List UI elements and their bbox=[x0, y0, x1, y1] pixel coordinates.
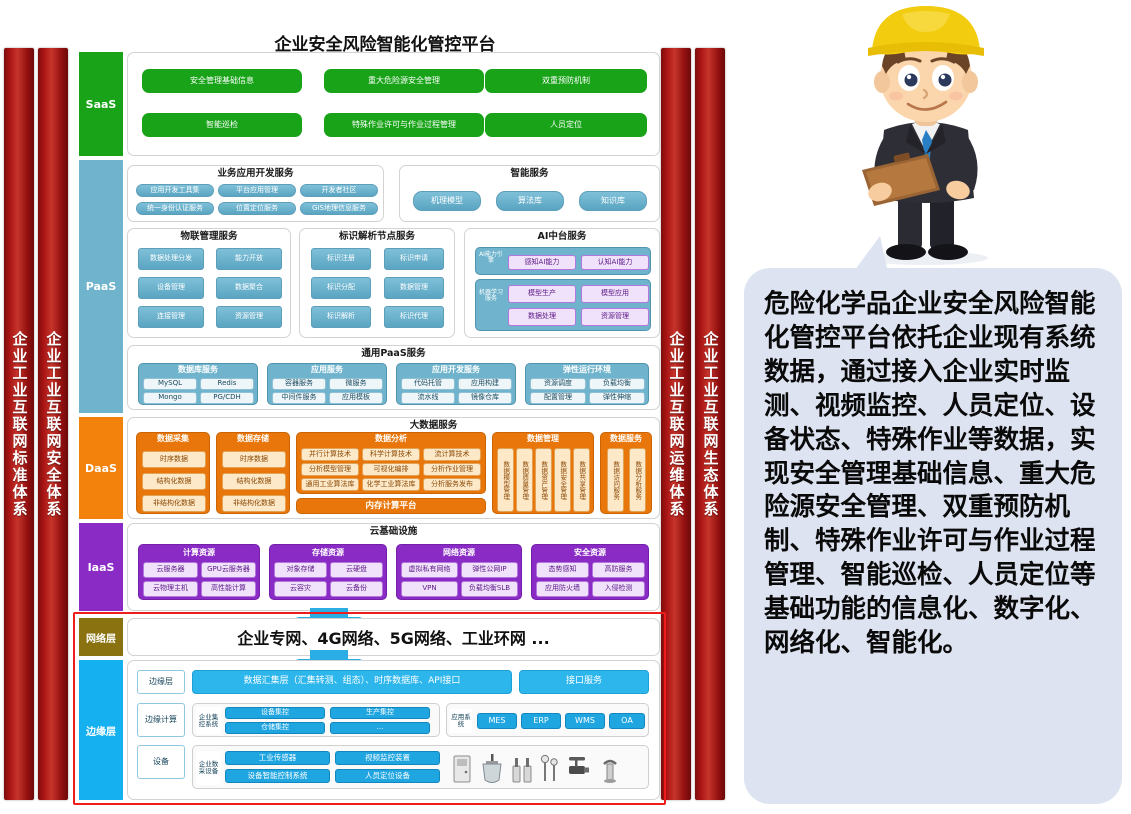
edge-row3-group: 企业数采设备 工业传感器 视频监控装置 设备智能控制系统 人员定位设备 bbox=[192, 745, 649, 789]
layer-tag-iaas: IaaS bbox=[79, 523, 123, 611]
iaas-group-2: 网络资源 虚拟私有网络 弹性公网IP VPN 负载均衡SLB bbox=[396, 544, 522, 600]
daas-analysis-item-0[interactable]: 并行计算技术 bbox=[301, 448, 359, 461]
paas-iot-item-1[interactable]: 能力开放 bbox=[216, 248, 282, 270]
paas-ai-engine-item-1[interactable]: 认知AI能力 bbox=[581, 255, 649, 270]
edge-row2-group1: 企业集控系统 设备集控 生产集控 仓储集控 ... bbox=[192, 703, 440, 737]
paas-biz-dev-title: 业务应用开发服务 bbox=[128, 166, 383, 179]
edge-row3-group-label: 企业数采设备 bbox=[196, 751, 221, 785]
valve-icon bbox=[599, 754, 621, 784]
edge-row2-g2-item-3[interactable]: OA bbox=[609, 713, 645, 729]
edge-row2-g1-item-3[interactable]: ... bbox=[330, 722, 430, 734]
daas-data-mgmt-item-2[interactable]: 数据资产管理 bbox=[535, 448, 552, 512]
paas-ml-group: 机器学习服务 模型生产 模型应用 数据处理 资源管理 bbox=[475, 279, 651, 331]
edge-row2-g1-item-0[interactable]: 设备集控 bbox=[225, 707, 325, 719]
daas-analysis-item-5[interactable]: 分析作业管理 bbox=[423, 463, 481, 476]
edge-row2-group1-label: 企业集控系统 bbox=[196, 707, 221, 734]
daas-analysis-item-2[interactable]: 流计算技术 bbox=[423, 448, 481, 461]
paas-id-resolve-title: 标识解析节点服务 bbox=[300, 229, 454, 242]
daas-analysis-item-7[interactable]: 化学工业算法库 bbox=[362, 478, 420, 491]
general-paas-group-1-title: 应用服务 bbox=[268, 364, 386, 376]
banner-left-standard-label: 企业工业互联网标准体系 bbox=[12, 331, 27, 518]
daas-analysis-title: 数据分析 bbox=[297, 433, 485, 445]
daas-collect-item-1[interactable]: 结构化数据 bbox=[142, 473, 206, 490]
edge-row3-label: 设备 bbox=[137, 745, 185, 779]
daas-analysis-item-4[interactable]: 可视化编排 bbox=[362, 463, 420, 476]
daas-data-service-item-1[interactable]: 数据分析服务 bbox=[629, 448, 646, 512]
daas-analysis-footer-label: 内存计算平台 bbox=[297, 499, 485, 514]
edge-row2-group2-label: 应用系统 bbox=[450, 709, 472, 733]
general-paas-g0-item-0[interactable]: MySQL bbox=[143, 378, 197, 390]
paas-id-item-0[interactable]: 标识注册 bbox=[311, 248, 371, 270]
iaas-g1-item-1[interactable]: 云硬盘 bbox=[330, 562, 383, 578]
sensor-probe-icon bbox=[511, 754, 533, 784]
iaas-g2-item-1[interactable]: 弹性公网IP bbox=[461, 562, 518, 578]
paas-ml-label: 机器学习服务 bbox=[478, 290, 504, 303]
daas-data-service-title: 数据服务 bbox=[601, 433, 651, 445]
paas-smart-service-title: 智能服务 bbox=[400, 166, 659, 179]
daas-collect-title: 数据采集 bbox=[137, 433, 209, 445]
edge-row3-item-0[interactable]: 工业传感器 bbox=[225, 751, 330, 765]
device-icon-strip bbox=[451, 752, 621, 784]
daas-data-mgmt-item-1[interactable]: 数据质量管理 bbox=[516, 448, 533, 512]
daas-title: 大数据服务 bbox=[128, 418, 659, 431]
paas-ai-title: AI中台服务 bbox=[465, 229, 659, 242]
general-paas-panel: 通用PaaS服务 数据库服务 MySQL Redis Mongo PG/CDH … bbox=[127, 345, 660, 410]
edge-row1-side[interactable]: 接口服务 bbox=[519, 670, 649, 694]
paas-iot-item-5[interactable]: 资源管理 bbox=[216, 306, 282, 328]
daas-collect-item-0[interactable]: 时序数据 bbox=[142, 451, 206, 468]
paas-ai-panel: AI中台服务 AI能力引擎 感知AI能力 认知AI能力 机器学习服务 模型生产 … bbox=[464, 228, 660, 338]
edge-row1-main[interactable]: 数据汇集层（汇集转测、组态）、时序数据库、API接口 bbox=[192, 670, 512, 694]
daas-data-mgmt-group: 数据管理 数据模型管理 数据质量管理 数据资产管理 数据安全管理 数据共享管理 bbox=[492, 432, 594, 514]
diagram-canvas: 企业工业互联网标准体系 企业工业互联网安全体系 企业工业互联网运维体系 企业工业… bbox=[0, 0, 1131, 814]
daas-analysis-item-8[interactable]: 分析服务发布 bbox=[423, 478, 481, 491]
daas-data-mgmt-item-4[interactable]: 数据共享管理 bbox=[573, 448, 590, 512]
iaas-g3-item-2[interactable]: 应用防火墙 bbox=[536, 581, 589, 597]
saas-panel: 安全管理基础信息 重大危险源安全管理 双重预防机制 智能巡检 特殊作业许可与作业… bbox=[127, 52, 660, 156]
paas-ml-item-3[interactable]: 资源管理 bbox=[581, 308, 649, 326]
paas-ml-item-2[interactable]: 数据处理 bbox=[508, 308, 576, 326]
daas-data-service-item-0[interactable]: 数据访问服务 bbox=[607, 448, 624, 512]
banner-left-standard: 企业工业互联网标准体系 bbox=[4, 48, 34, 800]
saas-item-5[interactable]: 人员定位 bbox=[485, 113, 647, 137]
paas-id-item-5[interactable]: 标识代理 bbox=[384, 306, 444, 328]
daas-analysis-footer: 内存计算平台 bbox=[296, 498, 486, 514]
paas-biz-dev-item-5[interactable]: GIS地理信息服务 bbox=[300, 202, 378, 215]
reactor-tank-icon bbox=[479, 754, 505, 784]
paas-ml-item-0[interactable]: 模型生产 bbox=[508, 285, 576, 303]
edge-row1-label: 边缘层 bbox=[137, 670, 185, 694]
daas-storage-item-1[interactable]: 结构化数据 bbox=[222, 473, 286, 490]
speech-bubble-text: 危险化学品企业安全风险智能化管控平台依托企业现有系统数据，通过接入企业实时监测、… bbox=[764, 288, 1106, 661]
layer-tag-paas: PaaS bbox=[79, 160, 123, 413]
daas-storage-item-0[interactable]: 时序数据 bbox=[222, 451, 286, 468]
iaas-group-2-title: 网络资源 bbox=[397, 545, 521, 560]
general-paas-g1-item-1[interactable]: 微服务 bbox=[329, 378, 383, 390]
speech-bubble: 危险化学品企业安全风险智能化管控平台依托企业现有系统数据，通过接入企业实时监测、… bbox=[744, 268, 1122, 804]
daas-collect-group: 数据采集 时序数据 结构化数据 非结构化数据 bbox=[136, 432, 210, 514]
saas-item-2[interactable]: 双重预防机制 bbox=[485, 69, 647, 93]
banner-right-ops: 企业工业互联网运维体系 bbox=[661, 48, 691, 800]
general-paas-g2-item-3[interactable]: 镜像仓库 bbox=[458, 392, 512, 404]
general-paas-group-2-title: 应用开发服务 bbox=[397, 364, 515, 376]
paas-iot-item-0[interactable]: 数据处理分发 bbox=[138, 248, 204, 270]
general-paas-group-0-title: 数据库服务 bbox=[139, 364, 257, 376]
edge-row3-item-1[interactable]: 视频监控装置 bbox=[335, 751, 440, 765]
general-paas-g0-item-2[interactable]: Mongo bbox=[143, 392, 197, 404]
iaas-g0-item-1[interactable]: GPU云服务器 bbox=[201, 562, 256, 578]
edge-row2-g2-item-0[interactable]: MES bbox=[477, 713, 517, 729]
paas-iot-item-4[interactable]: 连接管理 bbox=[138, 306, 204, 328]
paas-ml-item-1[interactable]: 模型应用 bbox=[581, 285, 649, 303]
paas-biz-dev-item-2[interactable]: 开发者社区 bbox=[300, 184, 378, 197]
daas-analysis-group: 数据分析 并行计算技术 科学计算技术 流计算技术 分析模型管理 可视化编排 分析… bbox=[296, 432, 486, 494]
general-paas-g1-item-2[interactable]: 中间件服务 bbox=[272, 392, 326, 404]
general-paas-g0-item-3[interactable]: PG/CDH bbox=[200, 392, 254, 404]
iaas-g0-item-0[interactable]: 云服务器 bbox=[143, 562, 198, 578]
paas-biz-dev-item-3[interactable]: 统一身份认证服务 bbox=[136, 202, 214, 215]
iaas-g3-item-0[interactable]: 态势感知 bbox=[536, 562, 589, 578]
saas-item-0[interactable]: 安全管理基础信息 bbox=[142, 69, 302, 93]
iaas-title: 云基础设施 bbox=[128, 524, 659, 537]
general-paas-g3-item-3[interactable]: 弹性伸缩 bbox=[589, 392, 645, 404]
paas-ai-engine-item-0[interactable]: 感知AI能力 bbox=[508, 255, 576, 270]
edge-row2-group2: 应用系统 MES ERP WMS OA bbox=[446, 703, 649, 737]
banner-right-ecosystem: 企业工业互联网生态体系 bbox=[695, 48, 725, 800]
paas-biz-dev-item-4[interactable]: 位置定位服务 bbox=[218, 202, 296, 215]
edge-row2-g1-item-2[interactable]: 仓储集控 bbox=[225, 722, 325, 734]
paas-smart-item-1[interactable]: 算法库 bbox=[496, 191, 564, 211]
general-paas-title: 通用PaaS服务 bbox=[128, 346, 659, 359]
daas-data-service-group: 数据服务 数据访问服务 数据分析服务 bbox=[600, 432, 652, 514]
paas-iot-panel: 物联管理服务 数据处理分发 能力开放 设备管理 数据聚合 连接管理 资源管理 bbox=[127, 228, 291, 338]
paas-smart-service-panel: 智能服务 机理模型 算法库 知识库 bbox=[399, 165, 660, 222]
layer-tag-daas: DaaS bbox=[79, 417, 123, 519]
daas-analysis-item-1[interactable]: 科学计算技术 bbox=[362, 448, 420, 461]
daas-data-mgmt-item-0[interactable]: 数据模型管理 bbox=[497, 448, 514, 512]
iaas-g0-item-2[interactable]: 云物理主机 bbox=[143, 581, 198, 597]
edge-row3-item-2[interactable]: 设备智能控制系统 bbox=[225, 769, 330, 783]
general-paas-group-0: 数据库服务 MySQL Redis Mongo PG/CDH bbox=[138, 363, 258, 405]
network-layer-panel: 企业专网、4G网络、5G网络、工业环网 ... bbox=[127, 618, 660, 656]
general-paas-group-3: 弹性运行环境 资源调度 负载均衡 配置管理 弹性伸缩 bbox=[525, 363, 649, 405]
iaas-group-0: 计算资源 云服务器 GPU云服务器 云物理主机 高性能计算 bbox=[138, 544, 260, 600]
network-layer-text: 企业专网、4G网络、5G网络、工业环网 ... bbox=[237, 625, 549, 649]
daas-data-mgmt-item-3[interactable]: 数据安全管理 bbox=[554, 448, 571, 512]
daas-storage-title: 数据存储 bbox=[217, 433, 289, 445]
paas-iot-item-2[interactable]: 设备管理 bbox=[138, 277, 204, 299]
edge-layer-panel: 边缘层 数据汇集层（汇集转测、组态）、时序数据库、API接口 接口服务 边缘计算… bbox=[127, 660, 660, 800]
iaas-group-0-title: 计算资源 bbox=[139, 545, 259, 560]
paas-ai-engine-label: AI能力引擎 bbox=[478, 252, 504, 265]
banner-right-ecosystem-label: 企业工业互联网生态体系 bbox=[703, 331, 718, 518]
iaas-g3-item-3[interactable]: 入侵检测 bbox=[592, 581, 645, 597]
general-paas-g3-item-1[interactable]: 负载均衡 bbox=[589, 378, 645, 390]
iaas-g2-item-3[interactable]: 负载均衡SLB bbox=[461, 581, 518, 597]
edge-row2-label: 边缘计算 bbox=[137, 703, 185, 737]
general-paas-group-2: 应用开发服务 代码托管 应用构建 流水线 镜像仓库 bbox=[396, 363, 516, 405]
daas-panel: 大数据服务 数据采集 时序数据 结构化数据 非结构化数据 数据存储 时序数据 结… bbox=[127, 417, 660, 519]
layer-tag-saas: SaaS bbox=[79, 52, 123, 156]
paas-id-resolve-panel: 标识解析节点服务 标识注册 标识申请 标识分配 数据管理 标识解析 标识代理 bbox=[299, 228, 455, 338]
iaas-g2-item-0[interactable]: 虚拟私有网络 bbox=[401, 562, 458, 578]
general-paas-g3-item-2[interactable]: 配置管理 bbox=[530, 392, 586, 404]
iaas-group-3-title: 安全资源 bbox=[532, 545, 648, 560]
layer-tag-network: 网络层 bbox=[79, 618, 123, 656]
banner-left-security-label: 企业工业互联网安全体系 bbox=[46, 331, 61, 518]
paas-biz-dev-item-0[interactable]: 应用开发工具集 bbox=[136, 184, 214, 197]
gauge-stack-icon bbox=[539, 754, 559, 784]
general-paas-g2-item-1[interactable]: 应用构建 bbox=[458, 378, 512, 390]
layer-tag-edge: 边缘层 bbox=[79, 660, 123, 800]
iaas-g0-item-3[interactable]: 高性能计算 bbox=[201, 581, 256, 597]
paas-id-item-1[interactable]: 标识申请 bbox=[384, 248, 444, 270]
iaas-group-1-title: 存储资源 bbox=[270, 545, 386, 560]
iaas-g1-item-2[interactable]: 云容灾 bbox=[274, 581, 327, 597]
general-paas-g3-item-0[interactable]: 资源调度 bbox=[530, 378, 586, 390]
iaas-g2-item-2[interactable]: VPN bbox=[401, 581, 458, 597]
engineer-character bbox=[806, 2, 1046, 270]
banner-left-security: 企业工业互联网安全体系 bbox=[38, 48, 68, 800]
paas-iot-title: 物联管理服务 bbox=[128, 229, 290, 242]
general-paas-g1-item-3[interactable]: 应用模板 bbox=[329, 392, 383, 404]
edge-row2-g1-item-1[interactable]: 生产集控 bbox=[330, 707, 430, 719]
iaas-g3-item-1[interactable]: 高防服务 bbox=[592, 562, 645, 578]
daas-storage-item-2[interactable]: 非结构化数据 bbox=[222, 495, 286, 512]
general-paas-g1-item-0[interactable]: 容器服务 bbox=[272, 378, 326, 390]
paas-biz-dev-item-1[interactable]: 平台应用管理 bbox=[218, 184, 296, 197]
paas-biz-dev-panel: 业务应用开发服务 应用开发工具集 平台应用管理 开发者社区 统一身份认证服务 位… bbox=[127, 165, 384, 222]
iaas-group-1: 存储资源 对象存储 云硬盘 云容灾 云备份 bbox=[269, 544, 387, 600]
paas-iot-item-3[interactable]: 数据聚合 bbox=[216, 277, 282, 299]
iaas-group-3: 安全资源 态势感知 高防服务 应用防火墙 入侵检测 bbox=[531, 544, 649, 600]
general-paas-group-1: 应用服务 容器服务 微服务 中间件服务 应用模板 bbox=[267, 363, 387, 405]
saas-item-3[interactable]: 智能巡检 bbox=[142, 113, 302, 137]
paas-id-item-3[interactable]: 数据管理 bbox=[384, 277, 444, 299]
paas-smart-item-0[interactable]: 机理模型 bbox=[413, 191, 481, 211]
iaas-g1-item-3[interactable]: 云备份 bbox=[330, 581, 383, 597]
banner-right-ops-label: 企业工业互联网运维体系 bbox=[669, 331, 684, 518]
edge-row3-item-3[interactable]: 人员定位设备 bbox=[335, 769, 440, 783]
iaas-panel: 云基础设施 计算资源 云服务器 GPU云服务器 云物理主机 高性能计算 存储资源… bbox=[127, 523, 660, 611]
cctv-camera-icon bbox=[565, 754, 593, 784]
general-paas-g2-item-0[interactable]: 代码托管 bbox=[401, 378, 455, 390]
cabinet-icon bbox=[451, 754, 473, 784]
daas-data-mgmt-title: 数据管理 bbox=[493, 433, 593, 445]
daas-analysis-item-3[interactable]: 分析模型管理 bbox=[301, 463, 359, 476]
daas-collect-item-2[interactable]: 非结构化数据 bbox=[142, 495, 206, 512]
edge-row2-g2-item-1[interactable]: ERP bbox=[521, 713, 561, 729]
daas-storage-group: 数据存储 时序数据 结构化数据 非结构化数据 bbox=[216, 432, 290, 514]
paas-smart-item-2[interactable]: 知识库 bbox=[579, 191, 647, 211]
saas-item-1[interactable]: 重大危险源安全管理 bbox=[324, 69, 484, 93]
general-paas-g2-item-2[interactable]: 流水线 bbox=[401, 392, 455, 404]
saas-item-4[interactable]: 特殊作业许可与作业过程管理 bbox=[324, 113, 484, 137]
paas-id-item-4[interactable]: 标识解析 bbox=[311, 306, 371, 328]
general-paas-g0-item-1[interactable]: Redis bbox=[200, 378, 254, 390]
iaas-g1-item-0[interactable]: 对象存储 bbox=[274, 562, 327, 578]
edge-row2-g2-item-2[interactable]: WMS bbox=[565, 713, 605, 729]
daas-analysis-item-6[interactable]: 通用工业算法库 bbox=[301, 478, 359, 491]
paas-id-item-2[interactable]: 标识分配 bbox=[311, 277, 371, 299]
paas-ai-engine-group: AI能力引擎 感知AI能力 认知AI能力 bbox=[475, 247, 651, 275]
general-paas-group-3-title: 弹性运行环境 bbox=[526, 364, 648, 376]
